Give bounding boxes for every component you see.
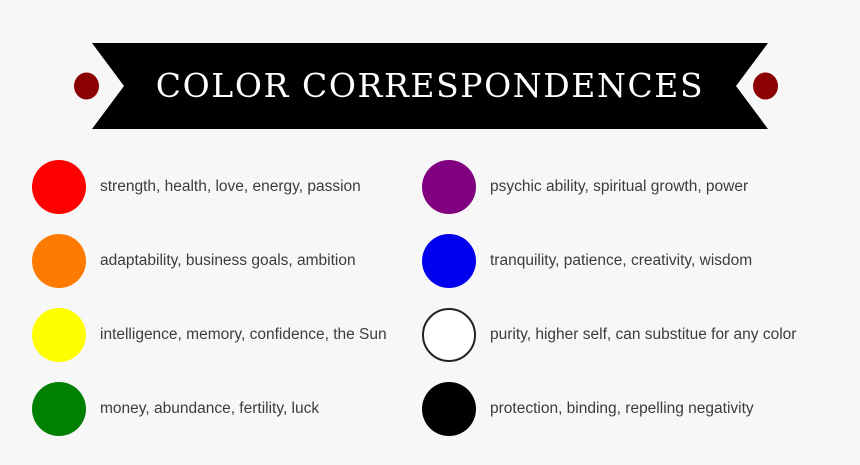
color-correspondences-infographic: COLOR CORRESPONDENCES strength, health, … (0, 0, 860, 465)
legend-item-green: money, abundance, fertility, luck (32, 372, 422, 446)
legend-item-black: protection, binding, repelling negativit… (422, 372, 812, 446)
banner-ribbon: COLOR CORRESPONDENCES (92, 43, 768, 129)
title-banner: COLOR CORRESPONDENCES (0, 43, 860, 129)
right-accent-dot (753, 73, 778, 100)
legend-item-purple: psychic ability, spiritual growth, power (422, 150, 812, 224)
white-swatch-icon (422, 308, 476, 362)
black-swatch-icon (422, 382, 476, 436)
red-swatch-icon (32, 160, 86, 214)
left-accent-dot (74, 73, 99, 100)
green-swatch-icon (32, 382, 86, 436)
legend-item-yellow: intelligence, memory, confidence, the Su… (32, 298, 422, 372)
legend-label-black: protection, binding, repelling negativit… (490, 400, 754, 419)
page-title: COLOR CORRESPONDENCES (156, 69, 704, 104)
legend-label-red: strength, health, love, energy, passion (100, 178, 361, 197)
color-legend-grid: strength, health, love, energy, passionp… (0, 150, 860, 450)
blue-swatch-icon (422, 234, 476, 288)
legend-label-yellow: intelligence, memory, confidence, the Su… (100, 326, 387, 345)
legend-label-white: purity, higher self, can substitue for a… (490, 326, 796, 345)
yellow-swatch-icon (32, 308, 86, 362)
legend-item-white: purity, higher self, can substitue for a… (422, 298, 812, 372)
legend-item-red: strength, health, love, energy, passion (32, 150, 422, 224)
legend-item-orange: adaptability, business goals, ambition (32, 224, 422, 298)
legend-label-orange: adaptability, business goals, ambition (100, 252, 356, 271)
orange-swatch-icon (32, 234, 86, 288)
legend-item-blue: tranquility, patience, creativity, wisdo… (422, 224, 812, 298)
legend-label-purple: psychic ability, spiritual growth, power (490, 178, 748, 197)
legend-label-blue: tranquility, patience, creativity, wisdo… (490, 252, 752, 271)
purple-swatch-icon (422, 160, 476, 214)
legend-label-green: money, abundance, fertility, luck (100, 400, 319, 419)
